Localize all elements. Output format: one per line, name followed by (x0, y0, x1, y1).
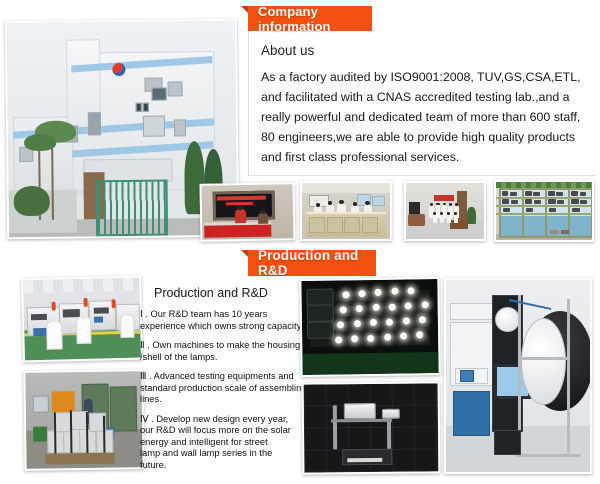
product-showroom-photo (494, 180, 594, 242)
instrument-base (342, 449, 392, 466)
rd-item-line: Ⅱ . Own machines to make the housing (140, 340, 310, 352)
rd-item-line: future. (140, 460, 310, 472)
lamp-fixture (307, 322, 334, 339)
rd-item-line: standard production scale of assembling (140, 383, 310, 395)
product-item (549, 208, 557, 213)
machine-panel (63, 309, 79, 317)
sphere-frame-rail (518, 357, 570, 360)
showroom-scene (496, 182, 592, 240)
presentation-hall-scene (202, 184, 294, 240)
rd-item: Ⅰ . Our R&D team has 10 years experience… (140, 309, 310, 332)
rd-item-line: Ⅲ . Advanced testing equipments and (140, 371, 310, 383)
product-item (526, 208, 534, 213)
led-light (416, 331, 423, 338)
team-member (447, 214, 452, 223)
sphere-white-face (521, 318, 566, 404)
about-us-panel: About us As a factory audited by ISO9001… (248, 31, 596, 176)
product-item (533, 192, 540, 196)
status-tower-light (51, 302, 55, 311)
machine-panel (93, 307, 108, 314)
reflector-disc (495, 307, 520, 332)
machine-panel (31, 313, 47, 320)
instrument-panel (460, 370, 474, 382)
led-light (405, 302, 412, 309)
tab-notch-icon (241, 6, 248, 13)
product-item (511, 200, 518, 204)
rd-item-line: energy and intelligent for street (140, 437, 310, 449)
support-post (333, 405, 337, 449)
casting-scene (25, 371, 142, 469)
machine-screen (33, 328, 47, 336)
led-light (384, 333, 391, 340)
company-information-tab[interactable]: Company information (248, 6, 372, 31)
wall-poster (372, 196, 385, 206)
team-member (433, 214, 438, 223)
window (135, 103, 142, 111)
presentation-hall-photo (200, 182, 296, 242)
lamp-test-scene (304, 383, 439, 472)
line-worker (47, 321, 62, 349)
shelf-rail (496, 213, 592, 215)
line-worker (121, 315, 133, 338)
die-casting-workshop-photo (23, 369, 144, 471)
product-item (510, 192, 517, 196)
status-tower-light (84, 298, 88, 307)
palm-fronds (24, 134, 56, 151)
company-logo-icon (112, 63, 125, 76)
window (174, 120, 185, 137)
lobby-team-photo (404, 181, 486, 241)
production-rd-tab-label: Production and R&D (258, 248, 376, 278)
about-us-body: As a factory audited by ISO9001:2008, TU… (261, 67, 590, 167)
product-item (534, 200, 541, 204)
instrument-label (347, 458, 382, 463)
integrating-sphere-lab-photo (444, 278, 592, 474)
product-item (525, 199, 533, 204)
team-member (454, 214, 459, 223)
speaker (235, 209, 246, 223)
product-item (548, 191, 555, 196)
street-lamp-test-photo (302, 381, 441, 474)
rd-item-line: Ⅳ . Develop new design every year, (140, 414, 310, 426)
rd-item-line: /shell of the lamps. (140, 352, 310, 364)
window (88, 112, 102, 136)
team-member (440, 214, 445, 223)
product-item (548, 199, 556, 204)
led-light (400, 332, 407, 339)
smt-scene (23, 278, 141, 361)
led-light (389, 303, 396, 310)
about-us-heading: About us (261, 43, 590, 58)
sofa (408, 214, 425, 225)
rd-item-line: Ⅰ . Our R&D team has 10 years (140, 309, 310, 321)
window (167, 81, 183, 96)
window (151, 88, 167, 101)
product-item (571, 191, 578, 196)
tab-notch-icon (241, 250, 248, 257)
banner-text-line (225, 202, 252, 205)
about-us-line: 80 engineers,we are able to provide high… (261, 127, 590, 147)
status-tower-light (112, 299, 116, 308)
window (142, 116, 165, 137)
led-light (386, 318, 393, 325)
aging-scene (301, 279, 438, 375)
street-lamp-head (382, 408, 400, 418)
front-gate (95, 180, 168, 236)
product-item (580, 192, 587, 196)
lamp-fixture (307, 288, 334, 305)
wooden-pallet (45, 452, 115, 464)
product-item (572, 208, 580, 213)
about-us-line: As a factory audited by ISO9001:2008, TU… (261, 67, 590, 87)
product-item (502, 191, 509, 196)
green-bin (33, 426, 47, 442)
television (409, 202, 420, 214)
rd-item-line: our R&D will focus more on the solar (140, 425, 310, 437)
red-desk-front (204, 225, 272, 238)
line-worker-head (51, 316, 58, 323)
production-rd-list: Ⅰ . Our R&D team has 10 years experience… (140, 309, 310, 471)
product-item (580, 200, 587, 204)
red-banner (434, 195, 454, 201)
rd-item-line: lines. (140, 394, 310, 406)
line-worker-head (80, 312, 87, 319)
sphere-frame-rail (515, 454, 581, 457)
floor-carton (561, 230, 569, 234)
counter-panel (344, 217, 360, 234)
attendee (258, 213, 267, 224)
casting-machine (109, 387, 137, 432)
led-light (421, 301, 428, 308)
coffee-table (450, 220, 469, 229)
production-rd-text-panel: Production and R&D Ⅰ . Our R&D team has … (140, 286, 310, 479)
rd-item: Ⅲ . Advanced testing equipments and stan… (140, 371, 310, 406)
attendee-head (260, 210, 266, 214)
production-rd-heading: Production and R&D (154, 286, 310, 300)
rd-item: Ⅳ . Develop new design every year, our R… (140, 414, 310, 472)
about-us-line: really powerful and dedicated team of mo… (261, 107, 590, 127)
banner-text-line (216, 195, 265, 200)
floor-unit (494, 430, 522, 455)
about-us-line: and facilitated with a CNAS accredited t… (261, 87, 590, 107)
window (142, 103, 149, 111)
product-item (571, 199, 579, 204)
product-item (503, 208, 511, 213)
product-item (502, 199, 510, 204)
floor-carton (550, 230, 560, 235)
green-floor (302, 352, 438, 375)
counter-panel (327, 217, 343, 234)
street-lamp-head (344, 403, 376, 419)
rd-item-line: lamp and wall lamp series in the (140, 448, 310, 460)
lamp-fixture (307, 305, 334, 322)
control-panel (33, 396, 49, 414)
staff-head (316, 203, 320, 207)
rd-item: Ⅱ . Own machines to make the housing /sh… (140, 340, 310, 363)
led-aging-rack-photo (299, 277, 440, 377)
horizontal-arm (331, 419, 393, 423)
sphere-frame-post (567, 299, 570, 453)
led-light (419, 316, 426, 323)
product-item (557, 200, 564, 204)
rd-item-line: experience which owns strong capacity. (140, 321, 310, 333)
about-us-line: and first class professional services. (261, 147, 590, 167)
machine-control-box (51, 391, 74, 412)
bush (13, 185, 50, 215)
office-reception-scene (302, 183, 390, 239)
office-reception-photo (300, 181, 392, 241)
casting-stack (54, 412, 71, 432)
team-member-head (449, 203, 452, 206)
company-information-tab-label: Company information (258, 4, 372, 34)
counter-panel (309, 217, 325, 234)
machine-screen (94, 317, 103, 323)
lab-scene (446, 280, 590, 472)
line-worker (77, 317, 90, 343)
equipment-rack (450, 303, 492, 320)
led-light (402, 317, 409, 324)
led-light (367, 334, 374, 341)
lobby-scene (406, 183, 484, 239)
production-rd-tab[interactable]: Production and R&D (248, 250, 376, 276)
company-profile-page: Company information (0, 0, 600, 484)
ceiling (302, 183, 390, 193)
blue-cabinet (453, 391, 490, 435)
product-item (556, 192, 563, 196)
counter-panel (362, 217, 378, 234)
smt-production-line-photo (21, 276, 143, 363)
shelf-rail (496, 205, 592, 207)
team-member-head (436, 203, 439, 206)
product-item (525, 191, 532, 196)
led-light (408, 287, 415, 294)
